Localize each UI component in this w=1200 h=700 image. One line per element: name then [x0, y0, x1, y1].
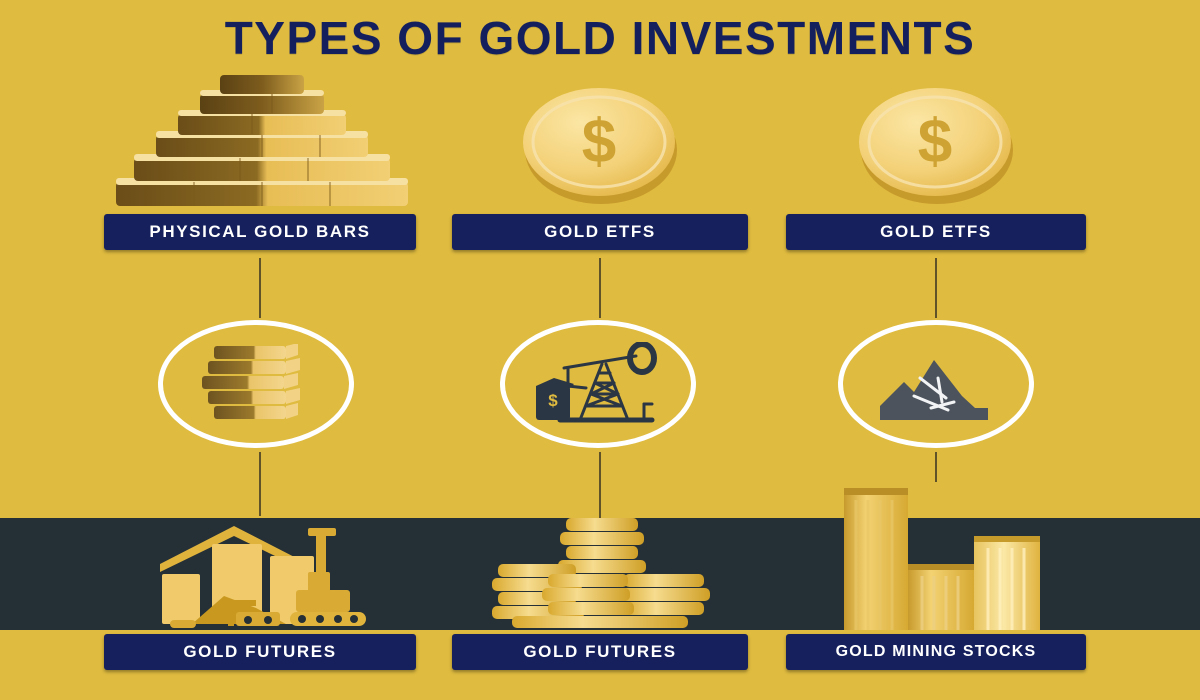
mining-site-icon	[140, 516, 380, 630]
label-gold-futures-2[interactable]: GOLD FUTURES	[452, 634, 748, 670]
svg-text:$: $	[548, 391, 558, 410]
connector-line	[599, 452, 601, 518]
infographic-canvas: TYPES OF GOLD INVESTMENTS	[0, 0, 1200, 700]
coin-dollar-glyph: $	[582, 108, 616, 177]
connector-line	[935, 452, 937, 482]
gold-coin-stacks-icon	[492, 512, 712, 630]
connector-line	[935, 258, 937, 318]
connector-line	[259, 452, 261, 516]
label-gold-mining-stocks[interactable]: GOLD MINING STOCKS	[786, 634, 1086, 670]
oil-derrick-icon: $	[524, 342, 674, 428]
gold-dollar-coin-icon: $	[856, 84, 1018, 208]
label-gold-futures-1[interactable]: GOLD FUTURES	[104, 634, 416, 670]
mine-mountain-icon	[876, 352, 1000, 424]
connector-line	[259, 258, 261, 318]
stacked-gold-bars-icon	[200, 344, 312, 426]
label-gold-etfs-2[interactable]: GOLD ETFS	[786, 214, 1086, 250]
label-gold-etfs-1[interactable]: GOLD ETFS	[452, 214, 748, 250]
page-title: TYPES OF GOLD INVESTMENTS	[0, 14, 1200, 62]
gold-dollar-coin-icon: $	[520, 84, 682, 208]
gold-buildings-icon	[830, 480, 1060, 630]
connector-line	[599, 258, 601, 318]
gold-bar-pyramid-icon	[112, 72, 412, 208]
coin-dollar-glyph: $	[918, 108, 952, 177]
label-physical-gold-bars[interactable]: PHYSICAL GOLD BARS	[104, 214, 416, 250]
